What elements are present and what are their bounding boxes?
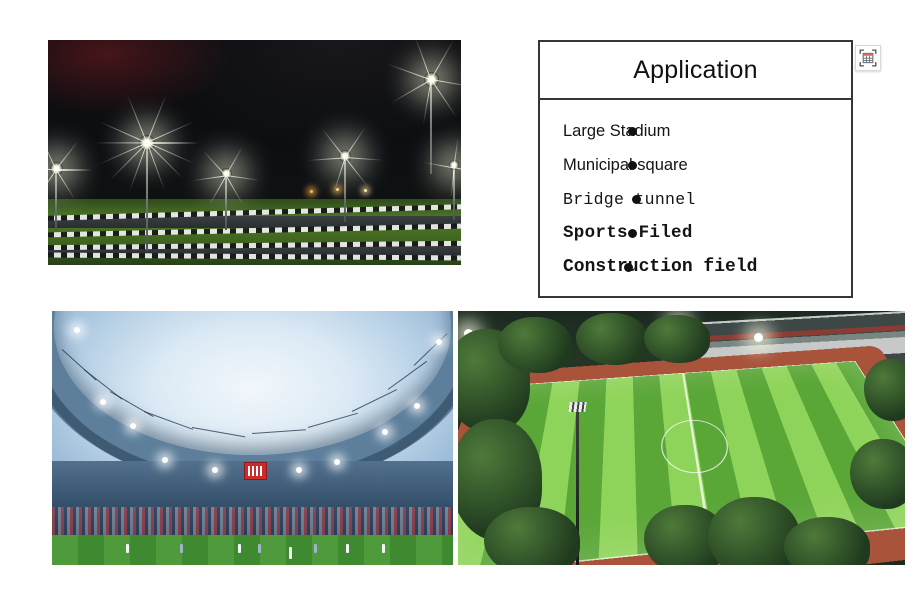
page-title: Application <box>633 56 758 85</box>
player <box>238 544 241 553</box>
player <box>289 547 292 559</box>
stadium-floodlight <box>212 467 218 473</box>
stadium-pitch <box>52 535 453 565</box>
player <box>382 544 385 553</box>
floodlight-head <box>568 402 586 412</box>
pitch-floodlight <box>754 333 763 342</box>
list-item-label: Large Stadium <box>563 122 670 141</box>
photo-stadium-bowl <box>52 311 453 565</box>
bullet-icon <box>628 229 637 238</box>
list-item-label: Construction field <box>563 257 757 277</box>
tree <box>576 313 648 365</box>
list-item: Construction field <box>540 250 851 284</box>
distant-light <box>310 190 313 193</box>
list-item: Large Stadium <box>540 114 851 148</box>
tree <box>784 517 870 565</box>
stadium-floodlight <box>414 403 420 409</box>
stadium-floodlight <box>162 457 168 463</box>
bullet-icon <box>624 263 633 272</box>
application-header: Application <box>540 42 851 100</box>
tree <box>498 317 572 373</box>
stadium-floodlight <box>296 467 302 473</box>
stadium-floodlight <box>130 423 136 429</box>
bullet-icon <box>632 195 641 204</box>
stadium-floodlight <box>100 399 106 405</box>
photo-turf-aerial <box>458 311 905 565</box>
player <box>314 544 317 553</box>
stadium-floodlight <box>382 429 388 435</box>
player <box>126 544 129 553</box>
list-item: Bridge tunnel <box>540 182 851 216</box>
stadium-floodlight <box>436 339 442 345</box>
list-item-label: Municipal square <box>563 156 688 175</box>
list-item-label: Bridge tunnel <box>563 190 696 209</box>
photo-stadium-night <box>48 40 461 265</box>
stadium-floodlight <box>74 327 80 333</box>
bullet-icon <box>628 161 637 170</box>
stadium-floodlight <box>334 459 340 465</box>
application-panel: Application Large Stadium Municipal squa… <box>538 40 853 298</box>
player <box>346 544 349 553</box>
list-item: Municipal square <box>540 148 851 182</box>
distant-light <box>364 189 367 192</box>
scoreboard <box>244 462 267 480</box>
table-crop-button[interactable] <box>855 45 881 71</box>
application-list: Large Stadium Municipal square Bridge tu… <box>540 100 851 284</box>
player <box>180 544 183 553</box>
player <box>258 544 261 553</box>
list-item: Sports Filed <box>540 216 851 250</box>
distant-light <box>336 188 339 191</box>
tree <box>644 315 710 363</box>
table-crop-icon <box>856 46 880 70</box>
tree <box>484 507 580 565</box>
bullet-icon <box>628 127 637 136</box>
